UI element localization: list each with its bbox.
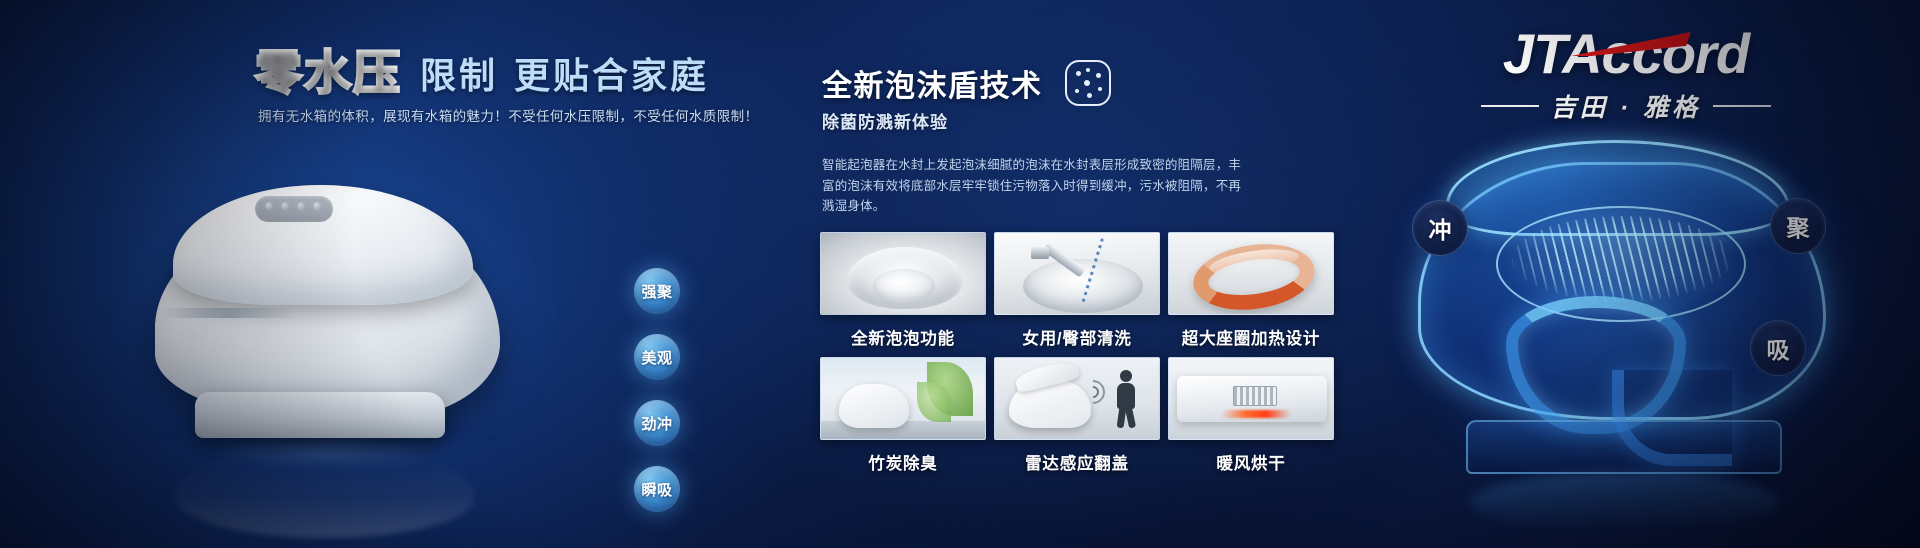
nozzle-spray-photo xyxy=(994,232,1160,315)
toilet-button-2 xyxy=(281,202,290,211)
promo-banner: 零水压 限制更贴合家庭 拥有无水箱的体积，展现有水箱的魅力！不受任何水压限制，不… xyxy=(0,0,1920,548)
right-badge-1-label: 冲 xyxy=(1429,211,1452,245)
right-badge-2[interactable]: 聚 xyxy=(1770,198,1826,254)
feature-cell-3[interactable]: 超大座圈加热设计 xyxy=(1168,232,1334,349)
headline-main: 零水压 xyxy=(255,34,402,103)
feature-cell-5[interactable]: 雷达感应翻盖 xyxy=(994,357,1160,474)
toilet-seam xyxy=(161,308,297,318)
center-title: 全新泡沫盾技术 xyxy=(822,61,1043,105)
feature-cell-2[interactable]: 女用/臀部清洗 xyxy=(994,232,1160,349)
left-badge-2-label: 美观 xyxy=(641,347,672,368)
right-panel: JTAccord 吉田 · 雅格 冲 聚 吸 xyxy=(1352,0,1920,548)
feature-cell-1[interactable]: 全新泡泡功能 xyxy=(820,232,986,349)
foam-bubble-icon xyxy=(1065,60,1111,106)
toilet-button-3 xyxy=(297,202,306,211)
headline-secondary: 限制更贴合家庭 xyxy=(420,47,709,103)
brand-logo-wordmark: JTAccord xyxy=(1503,26,1749,82)
center-subtitle: 除菌防溅新体验 xyxy=(822,108,948,133)
xray-base xyxy=(1466,420,1782,474)
left-badge-4[interactable]: 瞬吸 xyxy=(634,466,680,512)
radar-sensor-lid-photo xyxy=(994,357,1160,440)
xray-reflection xyxy=(1470,472,1780,532)
toilet-xray-illustration xyxy=(1380,120,1890,520)
brand-logo-subline: 吉田 · 雅格 xyxy=(1446,88,1806,124)
logo-rule-right xyxy=(1713,105,1771,107)
center-body-text: 智能起泡器在水封上发起泡沫细腻的泡沫在水封表层形成致密的阻隔层，丰富的泡沫有效将… xyxy=(822,155,1242,217)
heated-seat-ring-photo xyxy=(1168,232,1334,315)
xray-water-jets xyxy=(1512,216,1732,302)
left-badge-3[interactable]: 劲冲 xyxy=(634,400,680,446)
warm-air-dryer-photo xyxy=(1168,357,1334,440)
feature-caption-1: 全新泡泡功能 xyxy=(820,325,986,349)
logo-rule-left xyxy=(1481,105,1539,107)
feature-caption-4: 竹炭除臭 xyxy=(820,450,986,474)
toilet-illustration xyxy=(95,130,575,480)
left-badge-2[interactable]: 美观 xyxy=(634,334,680,380)
feature-caption-3: 超大座圈加热设计 xyxy=(1168,325,1334,349)
left-badge-1[interactable]: 强聚 xyxy=(634,268,680,314)
feature-caption-6: 暖风烘干 xyxy=(1168,450,1334,474)
feature-cell-6[interactable]: 暖风烘干 xyxy=(1168,357,1334,474)
center-title-row: 全新泡沫盾技术 xyxy=(822,60,1111,106)
center-panel: 全新泡沫盾技术 除菌防溅新体验 智能起泡器在水封上发起泡沫细腻的泡沫在水封表层形… xyxy=(812,0,1352,548)
brand-logo-chinese: 吉田 · 雅格 xyxy=(1551,88,1701,124)
left-badge-3-label: 劲冲 xyxy=(641,413,672,434)
feature-grid: 全新泡泡功能 女用/臀部清洗 超大座圈加热设计 竹炭除臭 xyxy=(820,232,1334,474)
toilet-button-4 xyxy=(313,202,322,211)
feature-caption-5: 雷达感应翻盖 xyxy=(994,450,1160,474)
brand-logo[interactable]: JTAccord 吉田 · 雅格 xyxy=(1446,26,1806,124)
left-badge-1-label: 强聚 xyxy=(641,281,672,302)
toilet-button-1 xyxy=(265,202,274,211)
feature-caption-2: 女用/臀部清洗 xyxy=(994,325,1160,349)
toilet-reflection xyxy=(175,448,475,538)
left-panel: 零水压 限制更贴合家庭 拥有无水箱的体积，展现有水箱的魅力！不受任何水压限制，不… xyxy=(0,0,790,548)
headline-subline: 拥有无水箱的体积，展现有水箱的魅力！不受任何水压限制，不受任何水质限制！ xyxy=(258,105,758,125)
right-badge-3[interactable]: 吸 xyxy=(1750,320,1806,376)
toilet-base xyxy=(195,392,445,438)
left-badge-4-label: 瞬吸 xyxy=(641,479,672,500)
right-badge-3-label: 吸 xyxy=(1767,331,1790,365)
feature-cell-4[interactable]: 竹炭除臭 xyxy=(820,357,986,474)
brand-logo-text: JTAccord xyxy=(1503,22,1749,85)
right-badge-1[interactable]: 冲 xyxy=(1412,200,1468,256)
right-badge-2-label: 聚 xyxy=(1787,209,1810,243)
bamboo-charcoal-photo xyxy=(820,357,986,440)
headline: 零水压 限制更贴合家庭 xyxy=(255,34,709,103)
foam-bowl-photo xyxy=(820,232,986,315)
